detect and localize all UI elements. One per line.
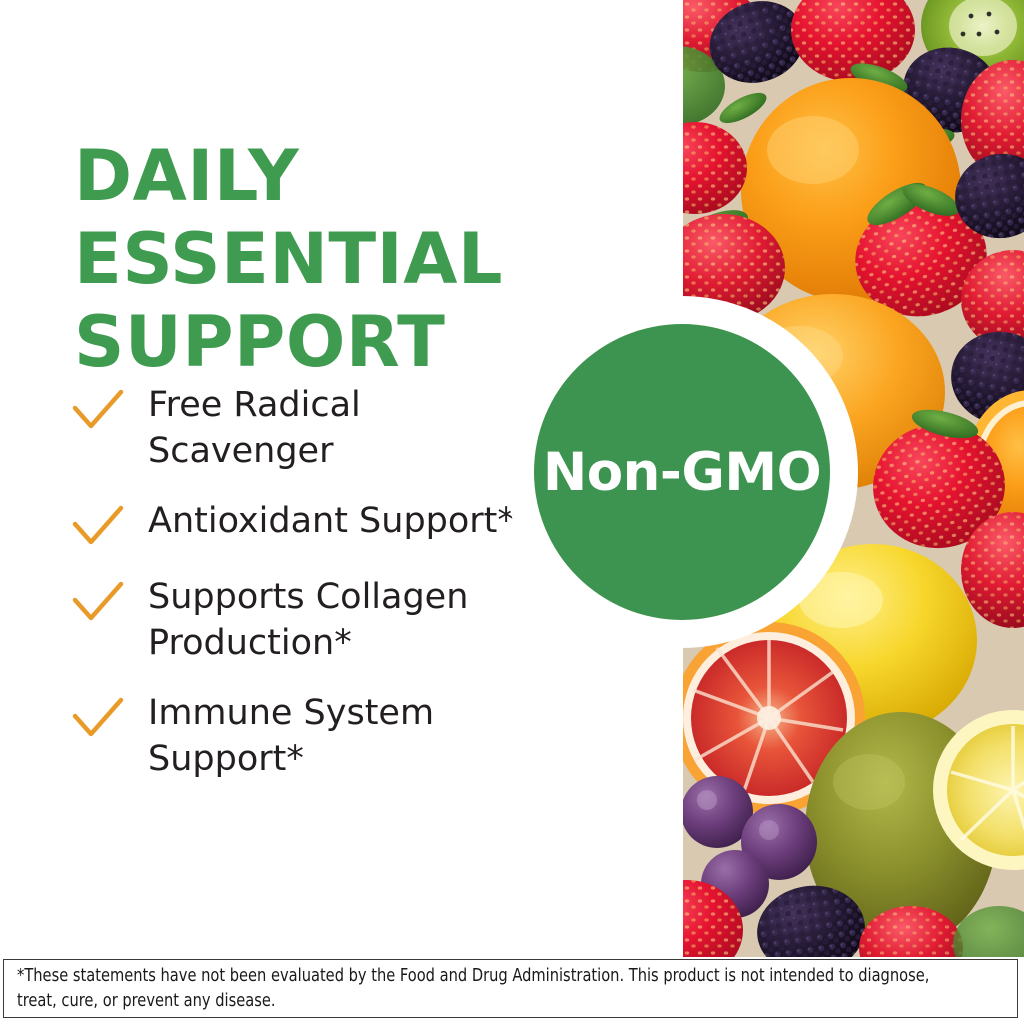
disclaimer-text: *These statements have not been evaluate… bbox=[4, 964, 946, 1014]
disclaimer-box: *These statements have not been evaluate… bbox=[3, 959, 1018, 1018]
headline-line-1: Daily bbox=[74, 135, 634, 218]
benefit-label: Immune System Support* bbox=[148, 690, 548, 782]
check-icon bbox=[70, 386, 126, 434]
list-item: Supports Collagen Production* bbox=[70, 574, 630, 666]
benefit-label: Free Radical Scavenger bbox=[148, 382, 548, 474]
check-icon bbox=[70, 578, 126, 626]
product-feature-card: Non-GMO Daily Essential Support Free Rad… bbox=[0, 0, 1024, 1024]
check-icon bbox=[70, 502, 126, 550]
benefit-label: Antioxidant Support* bbox=[148, 498, 515, 544]
check-icon bbox=[70, 694, 126, 742]
non-gmo-badge: Non-GMO bbox=[534, 324, 830, 620]
non-gmo-badge-label: Non-GMO bbox=[543, 446, 821, 499]
headline-line-2: Essential bbox=[74, 218, 634, 301]
benefit-label: Supports Collagen Production* bbox=[148, 574, 548, 666]
page-title: Daily Essential Support bbox=[74, 135, 634, 384]
list-item: Immune System Support* bbox=[70, 690, 630, 782]
